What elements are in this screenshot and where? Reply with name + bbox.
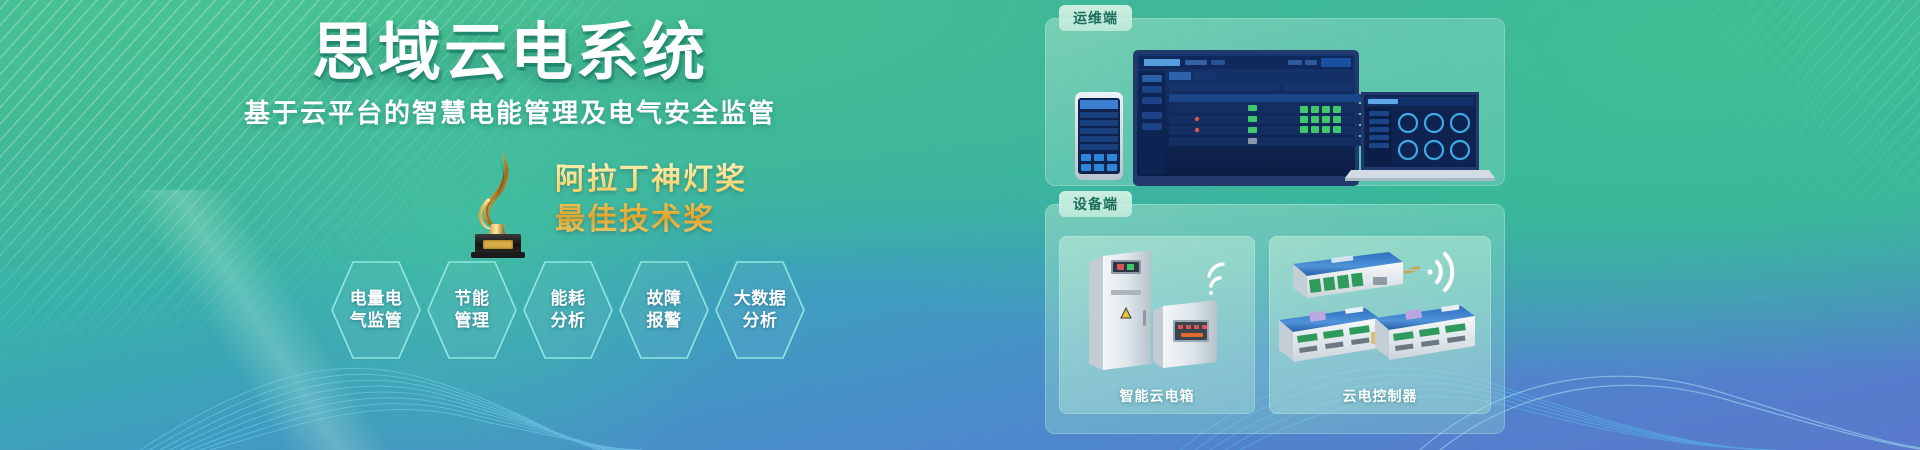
device-caption: 云电控制器 bbox=[1269, 386, 1491, 406]
banner-left-content: 思域云电系统 基于云平台的智慧电能管理及电气安全监管 bbox=[0, 0, 1020, 450]
award-line-2: 最佳技术奖 bbox=[555, 200, 747, 240]
desktop-monitor-mockup bbox=[1133, 50, 1401, 186]
device-panel: 设备端 bbox=[1045, 204, 1505, 434]
controller-right bbox=[1375, 304, 1475, 360]
controller-module-icon bbox=[1269, 236, 1491, 386]
feature-hex-4[interactable]: 故障 报警 bbox=[618, 258, 710, 362]
feature-hex-label: 电量电 气监管 bbox=[350, 288, 403, 332]
trophy-icon bbox=[455, 148, 539, 258]
smart-cabinet-icon bbox=[1059, 236, 1255, 386]
award-line-1: 阿拉丁神灯奖 bbox=[555, 160, 747, 200]
feature-hex-label: 故障 报警 bbox=[647, 288, 682, 332]
wifi-icon bbox=[1209, 264, 1223, 295]
feature-hex-1[interactable]: 电量电 气监管 bbox=[330, 258, 422, 362]
feature-hex-label: 能耗 分析 bbox=[551, 288, 586, 332]
om-panel-tag: 运维端 bbox=[1059, 5, 1132, 31]
feature-hexagon-row: 电量电 气监管 节能 管理 能耗 分析 故障 报警 bbox=[330, 258, 850, 368]
feature-hex-2[interactable]: 节能 管理 bbox=[426, 258, 518, 362]
laptop-mockup bbox=[1345, 92, 1495, 181]
device-item-controller[interactable]: 云电控制器 bbox=[1269, 236, 1491, 414]
banner-right-content: 运维端 bbox=[1045, 18, 1505, 438]
om-panel: 运维端 bbox=[1045, 18, 1505, 186]
page-title: 思域云电系统 bbox=[0, 22, 1020, 85]
device-panel-tag: 设备端 bbox=[1059, 191, 1132, 217]
feature-hex-label: 大数据 分析 bbox=[734, 288, 787, 332]
page-subtitle: 基于云平台的智慧电能管理及电气安全监管 bbox=[0, 93, 1020, 130]
controller-left bbox=[1279, 306, 1379, 362]
feature-hex-5[interactable]: 大数据 分析 bbox=[714, 258, 806, 362]
wifi-icon bbox=[1427, 254, 1452, 290]
award-text: 阿拉丁神灯奖 最佳技术奖 bbox=[555, 160, 747, 240]
phone-mockup bbox=[1075, 92, 1123, 180]
feature-hex-label: 节能 管理 bbox=[455, 288, 490, 332]
om-device-mockups bbox=[1045, 36, 1505, 186]
promo-banner: 思域云电系统 基于云平台的智慧电能管理及电气安全监管 bbox=[0, 0, 1920, 450]
feature-hex-3[interactable]: 能耗 分析 bbox=[522, 258, 614, 362]
controller-top bbox=[1293, 252, 1421, 298]
award-block: 阿拉丁神灯奖 最佳技术奖 bbox=[455, 148, 925, 258]
device-caption: 智能云电箱 bbox=[1059, 386, 1255, 406]
diagonal-hatch-pattern-right bbox=[1520, 0, 1920, 360]
device-item-cabinet[interactable]: 智能云电箱 bbox=[1059, 236, 1255, 414]
